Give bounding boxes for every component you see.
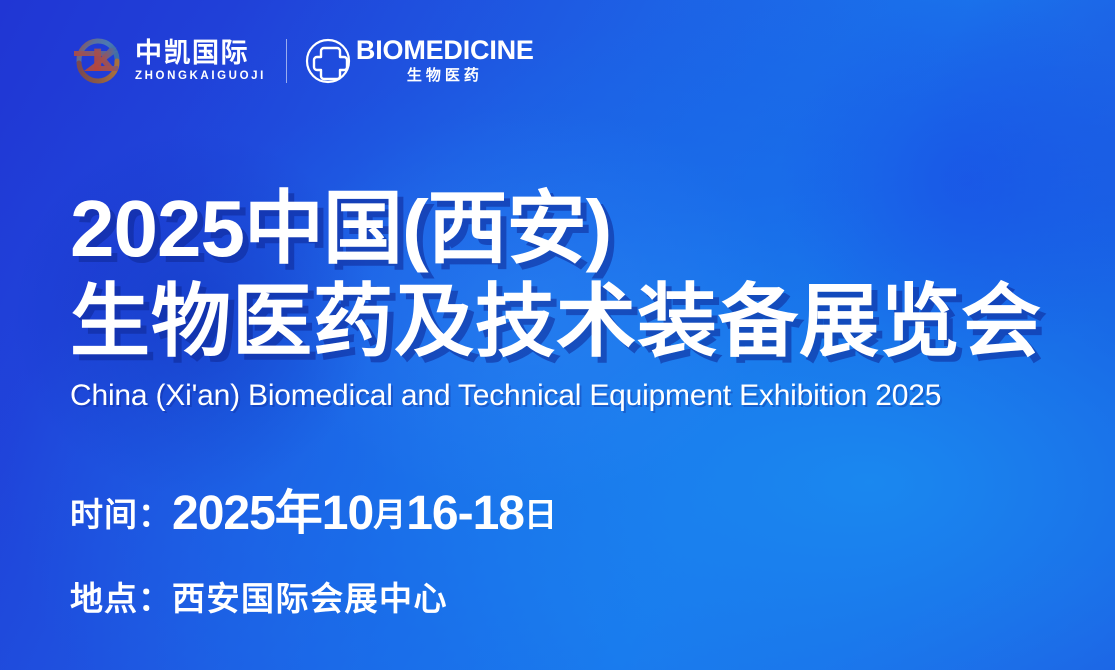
- medical-cross-circle-icon: [304, 37, 352, 85]
- subtitle-english: China (Xi'an) Biomedical and Technical E…: [70, 379, 941, 413]
- event-info-block: 时间： 2025年 10 月 16-18 日 地点： 西安国际会展中心: [70, 470, 557, 620]
- zhongkai-wordmark: 中凯国际 ZHONGKAIGUOJI: [135, 39, 266, 84]
- date-days: 16-18: [406, 486, 524, 541]
- venue-value: 西安国际会展中心: [172, 572, 448, 620]
- title-line-1: 2025中国(西安): [70, 182, 1042, 275]
- date-day-unit: 日: [524, 488, 557, 536]
- exhibition-poster: 中凯国际 ZHONGKAIGUOJI BIOMEDICINE 生物医药 2025…: [0, 0, 1115, 670]
- date-label: 时间：: [70, 488, 172, 536]
- event-date-row: 时间： 2025年 10 月 16-18 日: [70, 470, 557, 540]
- title-line-2: 生物医药及技术装备展览会: [70, 275, 1042, 368]
- venue-label: 地点：: [70, 572, 172, 620]
- logo-divider: [286, 39, 287, 83]
- zhongkai-name-en: ZHONGKAIGUOJI: [135, 69, 266, 83]
- zk-circle-swoosh-icon: [70, 35, 126, 87]
- zhongkai-name-cn: 中凯国际: [135, 39, 266, 67]
- biomedicine-logo: BIOMEDICINE 生物医药: [304, 36, 534, 85]
- zhongkai-logo: 中凯国际 ZHONGKAIGUOJI: [70, 35, 266, 87]
- biomedicine-name-en: BIOMEDICINE: [356, 36, 534, 64]
- logo-bar: 中凯国际 ZHONGKAIGUOJI BIOMEDICINE 生物医药: [70, 33, 534, 89]
- date-month: 10: [322, 486, 373, 541]
- biomedicine-wordmark: BIOMEDICINE 生物医药: [356, 36, 534, 85]
- date-month-unit: 月: [373, 488, 406, 536]
- date-year: 2025年: [172, 473, 322, 543]
- headline-block: 2025中国(西安) 生物医药及技术装备展览会: [70, 182, 1042, 368]
- event-venue-row: 地点： 西安国际会展中心: [70, 572, 557, 620]
- biomedicine-name-cn: 生物医药: [356, 67, 534, 86]
